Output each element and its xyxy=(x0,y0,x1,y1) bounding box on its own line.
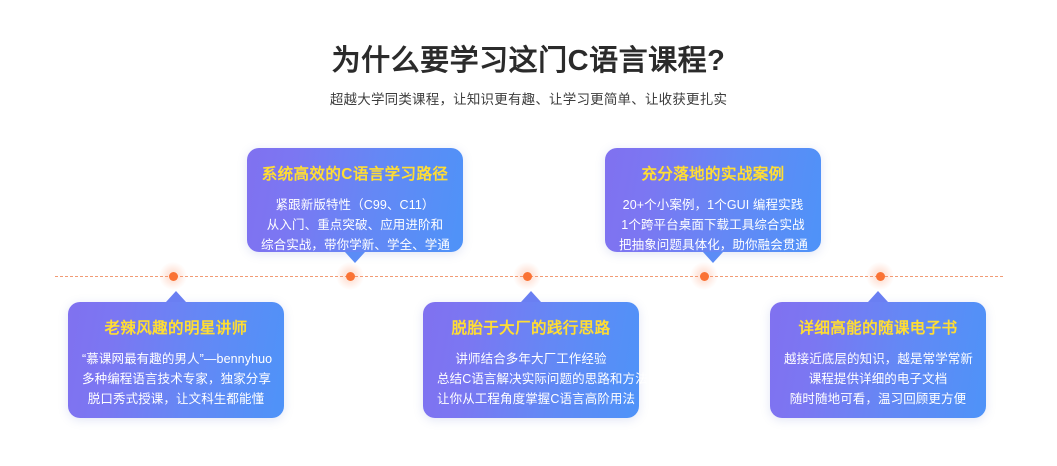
timeline-dot-2 xyxy=(336,262,364,290)
feature-card-body: 讲师结合多年大厂工作经验总结C语言解决实际问题的思路和方法让你从工程角度掌握C语… xyxy=(437,349,625,409)
feature-card-line: 从入门、重点突破、应用进阶和 xyxy=(261,215,449,235)
feature-card-line: 脱口秀式授课，让文科生都能懂 xyxy=(82,389,270,409)
feature-card-body: 20+个小案例，1个GUI 编程实践1个跨平台桌面下载工具综合实战把抽象问题具体… xyxy=(619,195,807,255)
feature-card-title: 系统高效的C语言学习路径 xyxy=(261,164,449,186)
feature-card-title: 脱胎于大厂的践行思路 xyxy=(437,318,625,340)
timeline-dot-3 xyxy=(513,262,541,290)
feature-card-line: “慕课网最有趣的男人”—bennyhuo xyxy=(82,349,270,369)
feature-card-line: 课程提供详细的电子文档 xyxy=(784,369,972,389)
page-subtitle: 超越大学同类课程，让知识更有趣、让学习更简单、让收获更扎实 xyxy=(0,90,1057,110)
feature-card-line: 随时随地可看，温习回顾更方便 xyxy=(784,389,972,409)
caret-up-icon xyxy=(868,291,888,302)
feature-card-body: 紧跟新版特性（C99、C11）从入门、重点突破、应用进阶和综合实战，带你学新、学… xyxy=(261,195,449,255)
feature-card-cases: 充分落地的实战案例20+个小案例，1个GUI 编程实践1个跨平台桌面下载工具综合… xyxy=(605,148,821,252)
feature-card-line: 讲师结合多年大厂工作经验 xyxy=(437,349,625,369)
timeline-dot-1 xyxy=(159,262,187,290)
feature-card-line: 让你从工程角度掌握C语言高阶用法 xyxy=(437,389,625,409)
feature-card-line: 紧跟新版特性（C99、C11） xyxy=(261,195,449,215)
timeline-dot-5 xyxy=(866,262,894,290)
feature-card-line: 多种编程语言技术专家，独家分享 xyxy=(82,369,270,389)
timeline-dot-4 xyxy=(690,262,718,290)
caret-up-icon xyxy=(166,291,186,302)
feature-timeline-page: 为什么要学习这门C语言课程? 超越大学同类课程，让知识更有趣、让学习更简单、让收… xyxy=(0,0,1057,466)
caret-down-icon xyxy=(345,252,365,263)
feature-card-body: 越接近底层的知识，越是常学常新课程提供详细的电子文档随时随地可看，温习回顾更方便 xyxy=(784,349,972,409)
feature-card-title: 详细高能的随课电子书 xyxy=(784,318,972,340)
feature-card-ebook: 详细高能的随课电子书越接近底层的知识，越是常学常新课程提供详细的电子文档随时随地… xyxy=(770,302,986,418)
feature-card-path: 系统高效的C语言学习路径紧跟新版特性（C99、C11）从入门、重点突破、应用进阶… xyxy=(247,148,463,252)
feature-card-line: 越接近底层的知识，越是常学常新 xyxy=(784,349,972,369)
page-title: 为什么要学习这门C语言课程? xyxy=(0,42,1057,80)
feature-card-mindset: 脱胎于大厂的践行思路讲师结合多年大厂工作经验总结C语言解决实际问题的思路和方法让… xyxy=(423,302,639,418)
page-header: 为什么要学习这门C语言课程? 超越大学同类课程，让知识更有趣、让学习更简单、让收… xyxy=(0,42,1057,110)
feature-card-teacher: 老辣风趣的明星讲师“慕课网最有趣的男人”—bennyhuo多种编程语言技术专家，… xyxy=(68,302,284,418)
caret-down-icon xyxy=(703,252,723,263)
feature-card-title: 老辣风趣的明星讲师 xyxy=(82,318,270,340)
caret-up-icon xyxy=(521,291,541,302)
feature-card-title: 充分落地的实战案例 xyxy=(619,164,807,186)
feature-card-body: “慕课网最有趣的男人”—bennyhuo多种编程语言技术专家，独家分享脱口秀式授… xyxy=(82,349,270,409)
feature-card-line: 1个跨平台桌面下载工具综合实战 xyxy=(619,215,807,235)
feature-card-line: 总结C语言解决实际问题的思路和方法 xyxy=(437,369,625,389)
feature-card-line: 20+个小案例，1个GUI 编程实践 xyxy=(619,195,807,215)
